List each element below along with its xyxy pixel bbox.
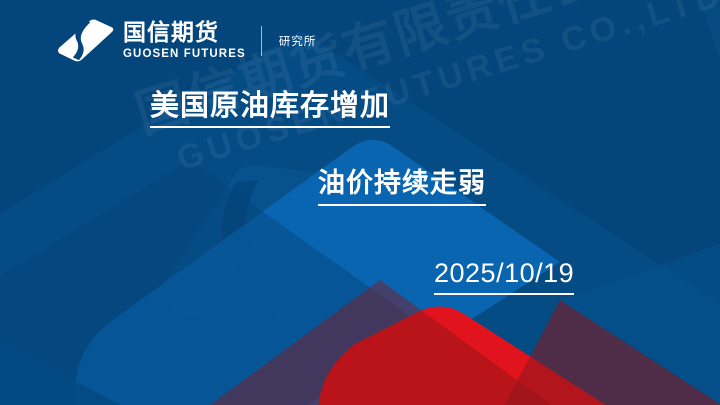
guosen-ribbon-icon — [56, 17, 114, 65]
logo-company-en: GUOSEN FUTURES — [123, 48, 246, 61]
logo-wordmark: 国信期货 GUOSEN FUTURES — [123, 21, 246, 61]
logo-divider — [261, 26, 262, 56]
logo-company-cn: 国信期货 — [123, 21, 246, 45]
report-date: 2025/10/19 — [434, 258, 574, 295]
title-line-1: 美国原油库存增加 — [150, 88, 390, 128]
company-logo: 国信期货 GUOSEN FUTURES 研究所 — [56, 17, 316, 65]
logo-department: 研究所 — [279, 33, 317, 49]
title-slide: 国信期货有限责任公司 GUOSEN FUTURES CO.,LTD. 国信期货 … — [0, 0, 720, 405]
title-line-2: 油价持续走弱 — [318, 168, 486, 206]
